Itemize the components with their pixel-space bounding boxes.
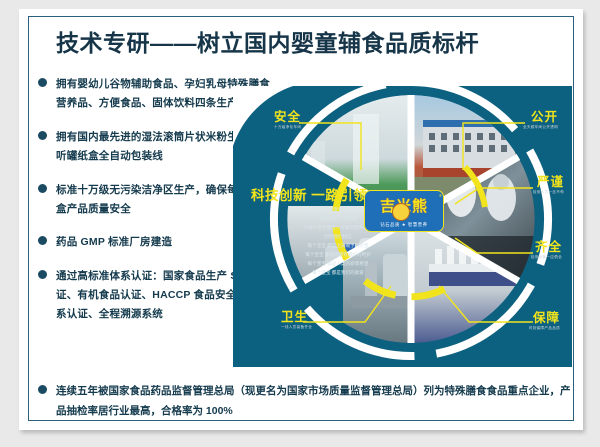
list-item-label: 药品 GMP 标准厂房建造 bbox=[56, 236, 172, 248]
wheel-label-title: 齐全 bbox=[531, 241, 562, 254]
wheel-label-title: 保障 bbox=[529, 312, 560, 325]
logo-tagline: 钻石品质 ★ 智慧营养 bbox=[364, 222, 444, 228]
bullet-dot-icon bbox=[38, 385, 47, 394]
center-body-line: 每个宝宝 都是上天赐予的珍宝 bbox=[245, 242, 431, 251]
bullet-dot-icon bbox=[38, 78, 47, 87]
wheel-label-weisheng: 卫生 一线人员装备齐全 bbox=[281, 311, 312, 330]
capability-wheel-graphic: 安全 十万级净化车间 公开 全天候车间公开透明 严谨 检测人员一丝不苟 齐全 检… bbox=[233, 86, 572, 367]
center-body-line: 每个宝宝 都值得拥有最好的呵护 bbox=[245, 251, 431, 260]
bullet-dot-icon bbox=[38, 184, 47, 193]
wheel-label-title: 公开 bbox=[523, 111, 558, 124]
bullet-dot-icon bbox=[38, 236, 47, 245]
wheel-label-sub: 全天候车间公开透明 bbox=[523, 126, 558, 130]
bear-mascot-icon bbox=[392, 203, 410, 221]
footnote: 连续五年被国家食品药品监督管理总局（现更名为国家市场质量监督管理总局）列为特殊膳… bbox=[36, 381, 574, 421]
center-body-line: 每个宝宝 都是我们的挚爱 bbox=[245, 269, 431, 278]
registered-mark: ® bbox=[439, 193, 442, 198]
center-body-line: 因为我们相信 bbox=[245, 233, 431, 242]
brand-logo: 吉米熊 ® 钻石品质 ★ 智慧营养 bbox=[364, 190, 444, 232]
bullet-dot-icon bbox=[38, 131, 47, 140]
wheel-label-gongkai: 公开 全天候车间公开透明 bbox=[523, 111, 558, 130]
wheel-label-yanjin: 严谨 检测人员一丝不苟 bbox=[533, 176, 564, 195]
center-body-line: 每个宝宝 都是人类的崭新希望 bbox=[245, 260, 431, 269]
wheel-label-baozhang: 保障 时刻保障产品品质 bbox=[529, 312, 560, 331]
wheel-label-qiquan: 齐全 检测设备一应俱全 bbox=[531, 241, 562, 260]
footnote-label: 连续五年被国家食品药品监督管理总局（现更名为国家市场质量监督管理总局）列为特殊膳… bbox=[56, 385, 571, 417]
wheel-label-sub: 检测设备一应俱全 bbox=[531, 256, 562, 260]
wheel-label-anquan: 安全 十万级净化车间 bbox=[274, 111, 301, 130]
wheel-label-sub: 一线人员装备齐全 bbox=[281, 326, 312, 330]
wheel-label-sub: 十万级净化车间 bbox=[274, 126, 301, 130]
wheel-label-sub: 检测人员一丝不苟 bbox=[533, 191, 564, 195]
wheel-label-title: 卫生 bbox=[281, 311, 312, 324]
wheel-label-title: 安全 bbox=[274, 111, 301, 124]
bullet-dot-icon bbox=[38, 270, 47, 279]
poster-canvas: 技术专研——树立国内婴童辅食品质标杆 拥有婴幼儿谷物辅助食品、孕妇乳母特殊膳食营… bbox=[0, 0, 600, 447]
wheel-label-title: 严谨 bbox=[533, 176, 564, 189]
wheel-label-sub: 时刻保障产品品质 bbox=[529, 327, 560, 331]
page-title: 技术专研——树立国内婴童辅食品质标杆 bbox=[56, 24, 479, 58]
